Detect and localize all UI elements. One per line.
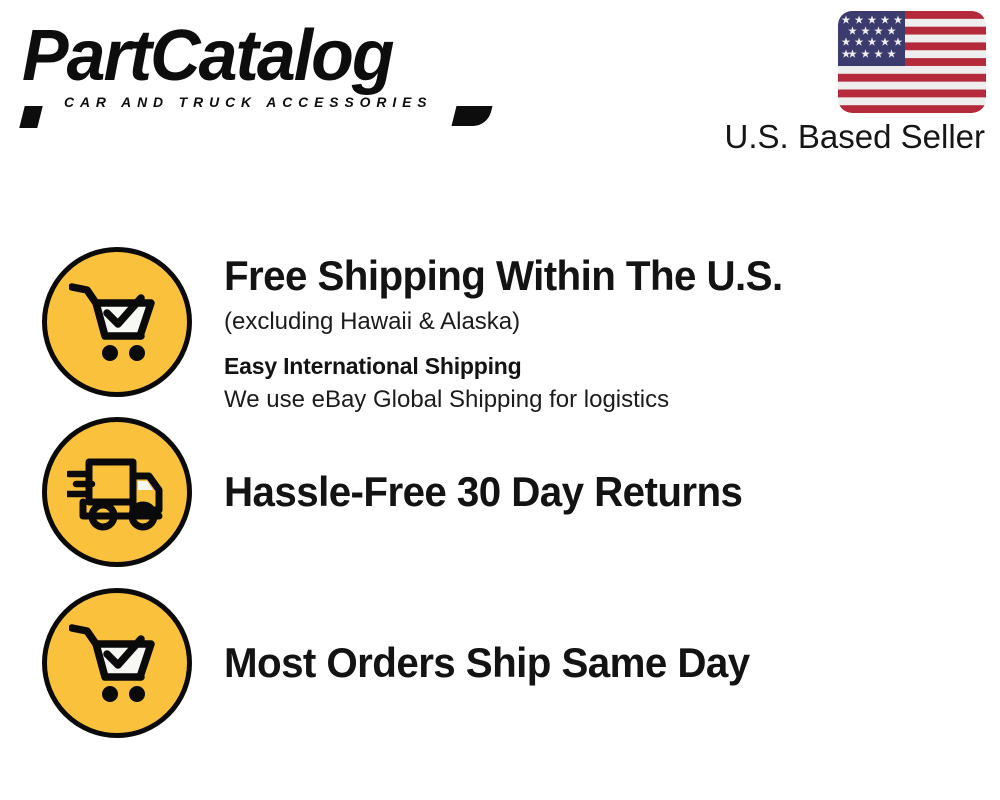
us-based-seller-label: U.S. Based Seller	[725, 117, 985, 157]
feature-badge-delivery-truck	[42, 417, 192, 567]
page-header: PartCatalog CAR AND TRUCK ACCESSORIES	[0, 0, 1000, 175]
feature-text-block: Most Orders Ship Same Day	[224, 638, 1000, 688]
feature-row: Most Orders Ship Same Day	[0, 588, 1000, 738]
us-flag-badge	[838, 11, 986, 113]
feature-title: Free Shipping Within The U.S.	[224, 251, 969, 301]
brand-wordmark: PartCatalog	[22, 20, 478, 92]
logo-swash-left-decoration	[19, 106, 42, 128]
us-flag-icon	[838, 11, 986, 113]
feature-text-block: Hassle-Free 30 Day Returns	[224, 467, 1000, 517]
brand-tagline: CAR AND TRUCK ACCESSORIES	[64, 94, 488, 110]
feature-text-block: Free Shipping Within The U.S. (excluding…	[224, 247, 1000, 416]
feature-row: Hassle-Free 30 Day Returns	[0, 417, 1000, 567]
feature-subtitle-note: We use eBay Global Shipping for logistic…	[224, 383, 1000, 416]
logo-swash-right-decoration	[452, 106, 493, 126]
shopping-cart-check-icon	[69, 279, 165, 365]
feature-badge-shopping-cart	[42, 247, 192, 397]
feature-badge-shopping-cart	[42, 588, 192, 738]
feature-title: Hassle-Free 30 Day Returns	[224, 467, 969, 517]
feature-row: Free Shipping Within The U.S. (excluding…	[0, 247, 1000, 416]
feature-subtitle: (excluding Hawaii & Alaska)	[224, 305, 1000, 339]
shopping-cart-check-icon	[69, 620, 165, 706]
brand-logo[interactable]: PartCatalog CAR AND TRUCK ACCESSORIES	[22, 20, 492, 110]
delivery-truck-icon	[67, 452, 167, 532]
feature-subtitle-strong: Easy International Shipping	[224, 350, 1000, 382]
feature-title: Most Orders Ship Same Day	[224, 638, 969, 688]
